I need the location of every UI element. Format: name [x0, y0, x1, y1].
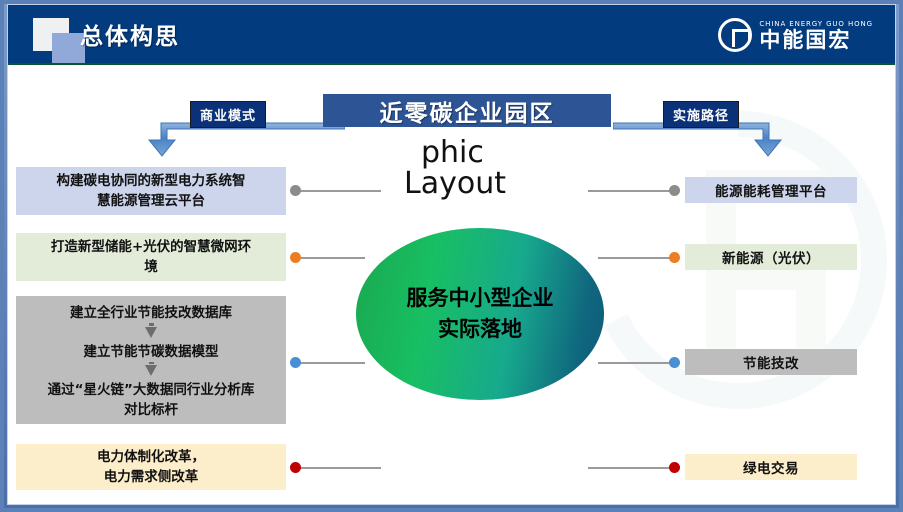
- company-logo: CHINA ENERGY GUO HONG 中能国宏: [718, 16, 873, 54]
- node-dot-right-4[interactable]: [669, 462, 680, 473]
- left-box-2-line-2: 境: [144, 257, 158, 277]
- left-box-3-line-1: 建立全行业节能技改数据库: [70, 303, 232, 323]
- left-box-cloud-platform[interactable]: 构建碳电协同的新型电力系统智 慧能源管理云平台: [16, 167, 286, 215]
- connector-right-3: [598, 362, 674, 364]
- company-logo-english: CHINA ENERGY GUO HONG: [759, 19, 873, 29]
- left-box-1-line-2: 慧能源管理云平台: [97, 191, 205, 211]
- connector-right-1: [588, 190, 674, 192]
- tab-business-model[interactable]: 商业模式: [190, 101, 266, 128]
- company-logo-text: CHINA ENERGY GUO HONG 中能国宏: [759, 19, 873, 52]
- main-title-banner: 近零碳企业园区: [323, 94, 611, 127]
- connector-left-2: [295, 257, 365, 259]
- connector-right-4: [588, 467, 674, 469]
- connector-left-1: [295, 190, 381, 192]
- left-box-energy-saving-database[interactable]: 建立全行业节能技改数据库 建立节能节碳数据模型 通过“星火链”大数据同行业分析库…: [16, 296, 286, 424]
- center-ellipse-line-1: 服务中小型企业: [407, 283, 554, 314]
- left-box-4-line-2: 电力需求侧改革: [104, 467, 199, 487]
- left-box-2-line-1: 打造新型储能+光伏的智慧微网环: [51, 237, 251, 257]
- center-ellipse-line-2: 实际落地: [438, 314, 522, 345]
- connector-right-2: [598, 257, 674, 259]
- node-dot-left-1[interactable]: [290, 185, 301, 196]
- down-arrow-1-icon: [145, 327, 157, 338]
- right-box-energy-saving-retrofit[interactable]: 节能技改: [685, 349, 857, 375]
- slide-canvas: 总体构思 CHINA ENERGY GUO HONG 中能国宏: [0, 0, 903, 512]
- left-box-1-line-1: 构建碳电协同的新型电力系统智: [57, 171, 246, 191]
- left-box-3-line-4: 对比标杆: [124, 400, 178, 420]
- node-dot-left-4[interactable]: [290, 462, 301, 473]
- down-arrow-2-icon: [145, 365, 157, 376]
- node-dot-right-2[interactable]: [669, 252, 680, 263]
- right-box-new-energy-pv[interactable]: 新能源（光伏）: [685, 244, 857, 270]
- company-logo-mark-icon: [718, 18, 752, 52]
- node-dot-left-2[interactable]: [290, 252, 301, 263]
- left-box-4-line-1: 电力体制化改革，: [97, 447, 205, 467]
- node-dot-right-3[interactable]: [669, 357, 680, 368]
- left-box-3-line-2: 建立节能节碳数据模型: [84, 342, 219, 362]
- tab-implementation-path[interactable]: 实施路径: [663, 101, 739, 128]
- left-box-micro-grid[interactable]: 打造新型储能+光伏的智慧微网环 境: [16, 233, 286, 281]
- page-title: 总体构思: [80, 17, 180, 51]
- center-ellipse[interactable]: 服务中小型企业 实际落地: [356, 228, 604, 400]
- left-box-power-reform[interactable]: 电力体制化改革， 电力需求侧改革: [16, 444, 286, 490]
- down-arrow-stem-2-icon: [149, 362, 154, 365]
- slide-header: 总体构思 CHINA ENERGY GUO HONG 中能国宏: [8, 5, 895, 65]
- node-dot-left-3[interactable]: [290, 357, 301, 368]
- company-logo-chinese: 中能国宏: [759, 29, 873, 52]
- right-box-energy-consumption-platform[interactable]: 能源能耗管理平台: [685, 177, 857, 203]
- connector-left-3: [295, 362, 365, 364]
- right-box-green-power-trading[interactable]: 绿电交易: [685, 454, 857, 480]
- connector-left-4: [295, 467, 381, 469]
- left-box-3-line-3: 通过“星火链”大数据同行业分析库: [48, 380, 255, 400]
- node-dot-right-1[interactable]: [669, 185, 680, 196]
- down-arrow-stem-1-icon: [149, 323, 154, 326]
- stray-text-line2: Layout: [404, 164, 506, 204]
